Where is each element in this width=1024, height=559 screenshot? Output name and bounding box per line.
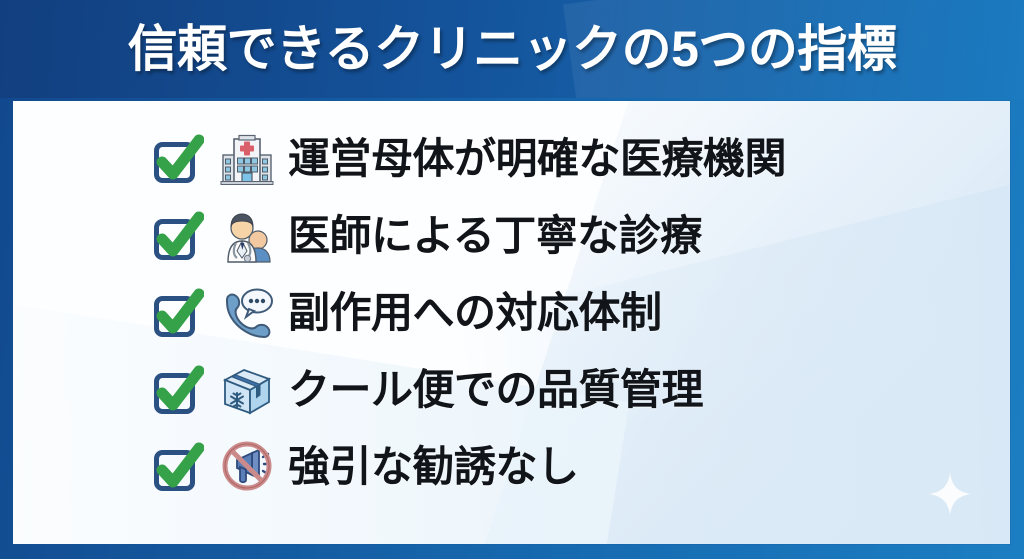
list-item[interactable]: 副作用への対応体制 xyxy=(13,275,1010,352)
phone-speech-bubble-icon xyxy=(218,285,276,343)
list-item-label: クール便での品質管理 xyxy=(288,368,703,412)
list-item-label: 医師による丁寧な診療 xyxy=(288,214,702,258)
checkbox-checked-icon[interactable] xyxy=(152,211,204,263)
list-item-label: 副作用への対応体制 xyxy=(288,291,662,335)
checklist: 運営母体が明確な医療機関 xyxy=(13,101,1010,544)
checklist-card: 運営母体が明確な医療機関 xyxy=(13,101,1010,544)
checkbox-checked-icon[interactable] xyxy=(152,134,204,186)
no-megaphone-icon xyxy=(218,439,276,497)
list-item-label: 強引な勧誘なし xyxy=(288,445,579,489)
header-banner: 信頼できるクリニックの5つの指標 xyxy=(0,0,1024,98)
checkbox-checked-icon[interactable] xyxy=(152,365,204,417)
list-item[interactable]: 運営母体が明確な医療機関 xyxy=(13,121,1010,198)
frozen-package-icon xyxy=(218,362,276,420)
list-item[interactable]: クール便での品質管理 xyxy=(13,352,1010,429)
infographic-canvas: 信頼できるクリニックの5つの指標 xyxy=(0,0,1024,559)
list-item-label: 運営母体が明確な医療機関 xyxy=(288,137,786,181)
checkbox-checked-icon[interactable] xyxy=(152,442,204,494)
list-item[interactable]: 強引な勧誘なし xyxy=(13,429,1010,506)
checkbox-checked-icon[interactable] xyxy=(152,288,204,340)
page-title: 信頼できるクリニックの5つの指標 xyxy=(0,6,1024,92)
list-item[interactable]: 医師による丁寧な診療 xyxy=(13,198,1010,275)
doctor-patient-icon xyxy=(218,208,276,266)
hospital-icon xyxy=(218,131,276,189)
